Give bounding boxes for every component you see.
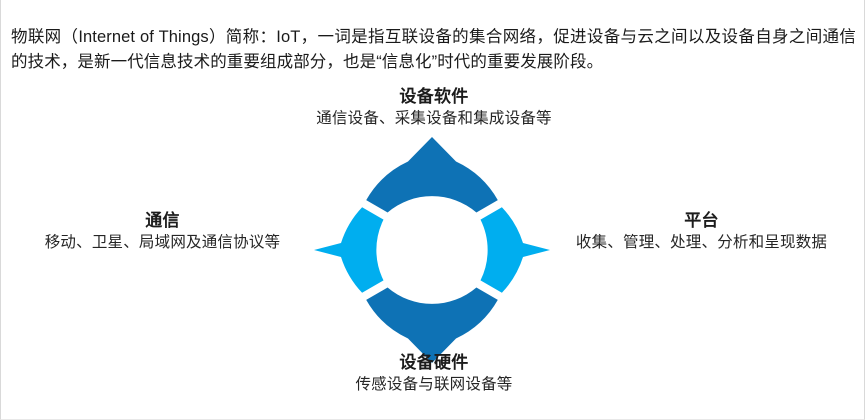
label-communication-desc: 移动、卫星、局域网及通信协议等 xyxy=(15,232,310,254)
segment-top-device-software xyxy=(366,137,498,213)
label-device-software: 设备软件 通信设备、采集设备和集成设备等 xyxy=(234,86,634,130)
label-communication-title: 通信 xyxy=(15,210,310,232)
label-device-hardware-title: 设备硬件 xyxy=(234,352,634,374)
label-device-software-title: 设备软件 xyxy=(234,86,634,108)
cycle-ring-graphic xyxy=(307,135,557,365)
slide-canvas: 物联网（Internet of Things）简称：IoT，一词是指互联设备的集… xyxy=(0,0,865,420)
intro-paragraph: 物联网（Internet of Things）简称：IoT，一词是指互联设备的集… xyxy=(11,25,856,75)
label-platform-title: 平台 xyxy=(549,210,854,232)
label-communication: 通信 移动、卫星、局域网及通信协议等 xyxy=(15,210,310,254)
iot-cycle-diagram: 设备软件 通信设备、采集设备和集成设备等 平台 收集、管理、处理、分析和呈现数据… xyxy=(1,80,865,420)
segment-right-platform xyxy=(481,207,551,293)
label-device-hardware-desc: 传感设备与联网设备等 xyxy=(234,374,634,396)
segment-left-communication xyxy=(314,207,384,293)
cycle-ring-svg xyxy=(307,135,557,365)
label-device-hardware: 设备硬件 传感设备与联网设备等 xyxy=(234,352,634,396)
label-platform-desc: 收集、管理、处理、分析和呈现数据 xyxy=(549,232,854,254)
label-platform: 平台 收集、管理、处理、分析和呈现数据 xyxy=(549,210,854,254)
label-device-software-desc: 通信设备、采集设备和集成设备等 xyxy=(234,108,634,130)
